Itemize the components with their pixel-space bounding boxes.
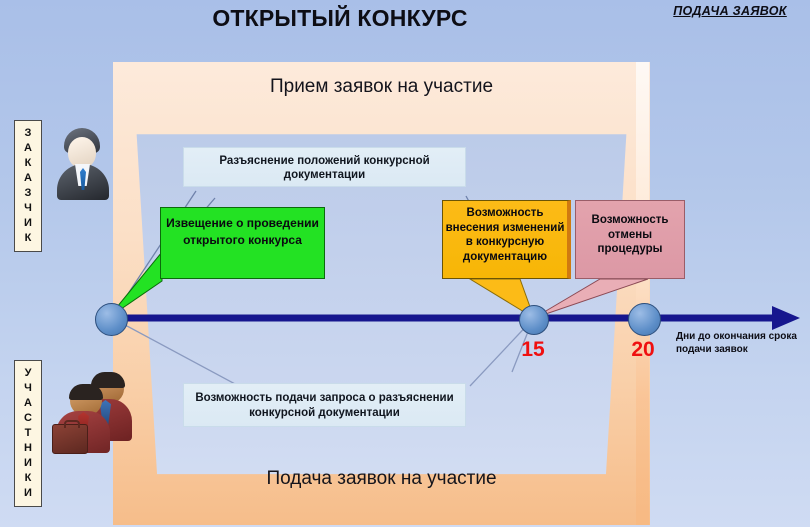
role-label-char: З: [15, 186, 41, 201]
role-label-char: К: [15, 156, 41, 171]
box-cancellation[interactable]: Возможность отмены процедуры: [575, 200, 685, 279]
timeline-axis-caption: Дни до окончания срока подачи заявок: [676, 330, 808, 356]
role-label-customer: ЗАКАЗЧИК: [14, 120, 42, 252]
role-label-char: Н: [15, 441, 41, 456]
businessman-icon: [55, 128, 111, 200]
role-label-char: Т: [15, 426, 41, 441]
role-label-char: И: [15, 216, 41, 231]
role-label-char: Ч: [15, 381, 41, 396]
slide-canvas: ОТКРЫТЫЙ КОНКУРС ПОДАЧА ЗАЯВОК Прием зая…: [0, 0, 810, 527]
timeline-node-start[interactable]: [95, 303, 128, 336]
box-request[interactable]: Возможность подачи запроса о разъяснении…: [183, 383, 466, 427]
role-label-char: С: [15, 411, 41, 426]
role-label-char: А: [15, 396, 41, 411]
timeline-label-day20: 20: [618, 338, 668, 362]
role-label-char: Ч: [15, 201, 41, 216]
businessmen-group-icon: [52, 372, 130, 454]
role-label-char: А: [15, 171, 41, 186]
role-label-char: К: [15, 471, 41, 486]
role-label-char: У: [15, 366, 41, 381]
timeline-node-day20[interactable]: [628, 303, 661, 336]
role-label-char: И: [15, 456, 41, 471]
timeline-label-day15: 15: [508, 338, 558, 362]
box-clarification[interactable]: Разъяснение положений конкурсной докумен…: [183, 147, 466, 187]
role-label-char: З: [15, 126, 41, 141]
role-label-char: И: [15, 486, 41, 501]
role-label-char: К: [15, 231, 41, 246]
role-label-char: А: [15, 141, 41, 156]
timeline-node-day15[interactable]: [519, 305, 549, 335]
box-changes[interactable]: Возможность внесения изменений в конкурс…: [442, 200, 571, 279]
box-notice[interactable]: Извещение о проведении открытого конкурс…: [160, 207, 325, 279]
role-label-participants: УЧАСТНИКИ: [14, 360, 42, 507]
